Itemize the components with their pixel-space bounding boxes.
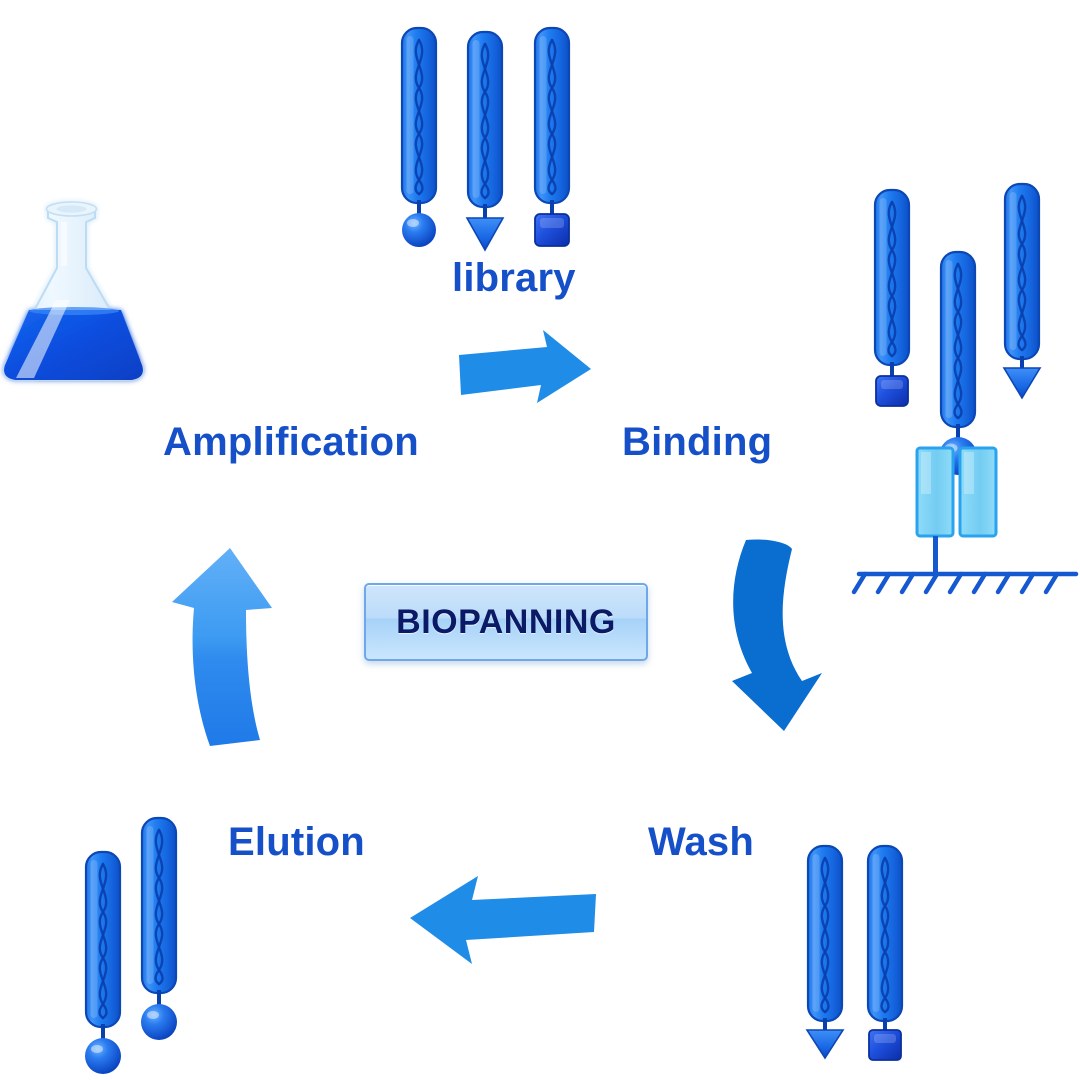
- phage-sphere-tip: [141, 818, 177, 1040]
- center-title-text: BIOPANNING: [396, 603, 616, 642]
- arrow-binding-to-wash: [710, 535, 840, 740]
- phage-square-tip: [875, 190, 909, 406]
- binding-illustration: [855, 180, 1080, 590]
- phage-arrow-tip: [807, 846, 843, 1058]
- elution-illustration: [78, 818, 228, 1068]
- arrow-library-to-binding: [455, 325, 600, 435]
- phage-square-tip: [535, 28, 569, 246]
- solid-surface-hatch: [854, 574, 1076, 592]
- center-title-badge: BIOPANNING: [364, 583, 648, 661]
- stage-label-library: library: [452, 256, 576, 301]
- phage-sphere-tip: [85, 852, 121, 1074]
- phage-arrow-tip: [467, 32, 503, 250]
- stage-label-binding: Binding: [622, 420, 772, 465]
- arrow-wash-to-elution: [400, 866, 600, 976]
- biopanning-diagram: library: [0, 0, 1080, 1080]
- amplification-illustration: [0, 200, 165, 400]
- phage-sphere-tip: [402, 28, 436, 247]
- stage-label-elution: Elution: [228, 820, 365, 865]
- stage-label-wash: Wash: [648, 820, 754, 865]
- stage-label-amplification: Amplification: [163, 420, 419, 465]
- erlenmeyer-flask: [4, 202, 143, 380]
- phage-square-tip: [868, 846, 902, 1060]
- library-illustration: [396, 20, 606, 250]
- phage-arrow-tip: [1004, 184, 1040, 398]
- arrow-elution-to-amplification: [168, 540, 283, 750]
- wash-illustration: [800, 840, 950, 1080]
- phage-bound-sphere-tip: [939, 252, 977, 475]
